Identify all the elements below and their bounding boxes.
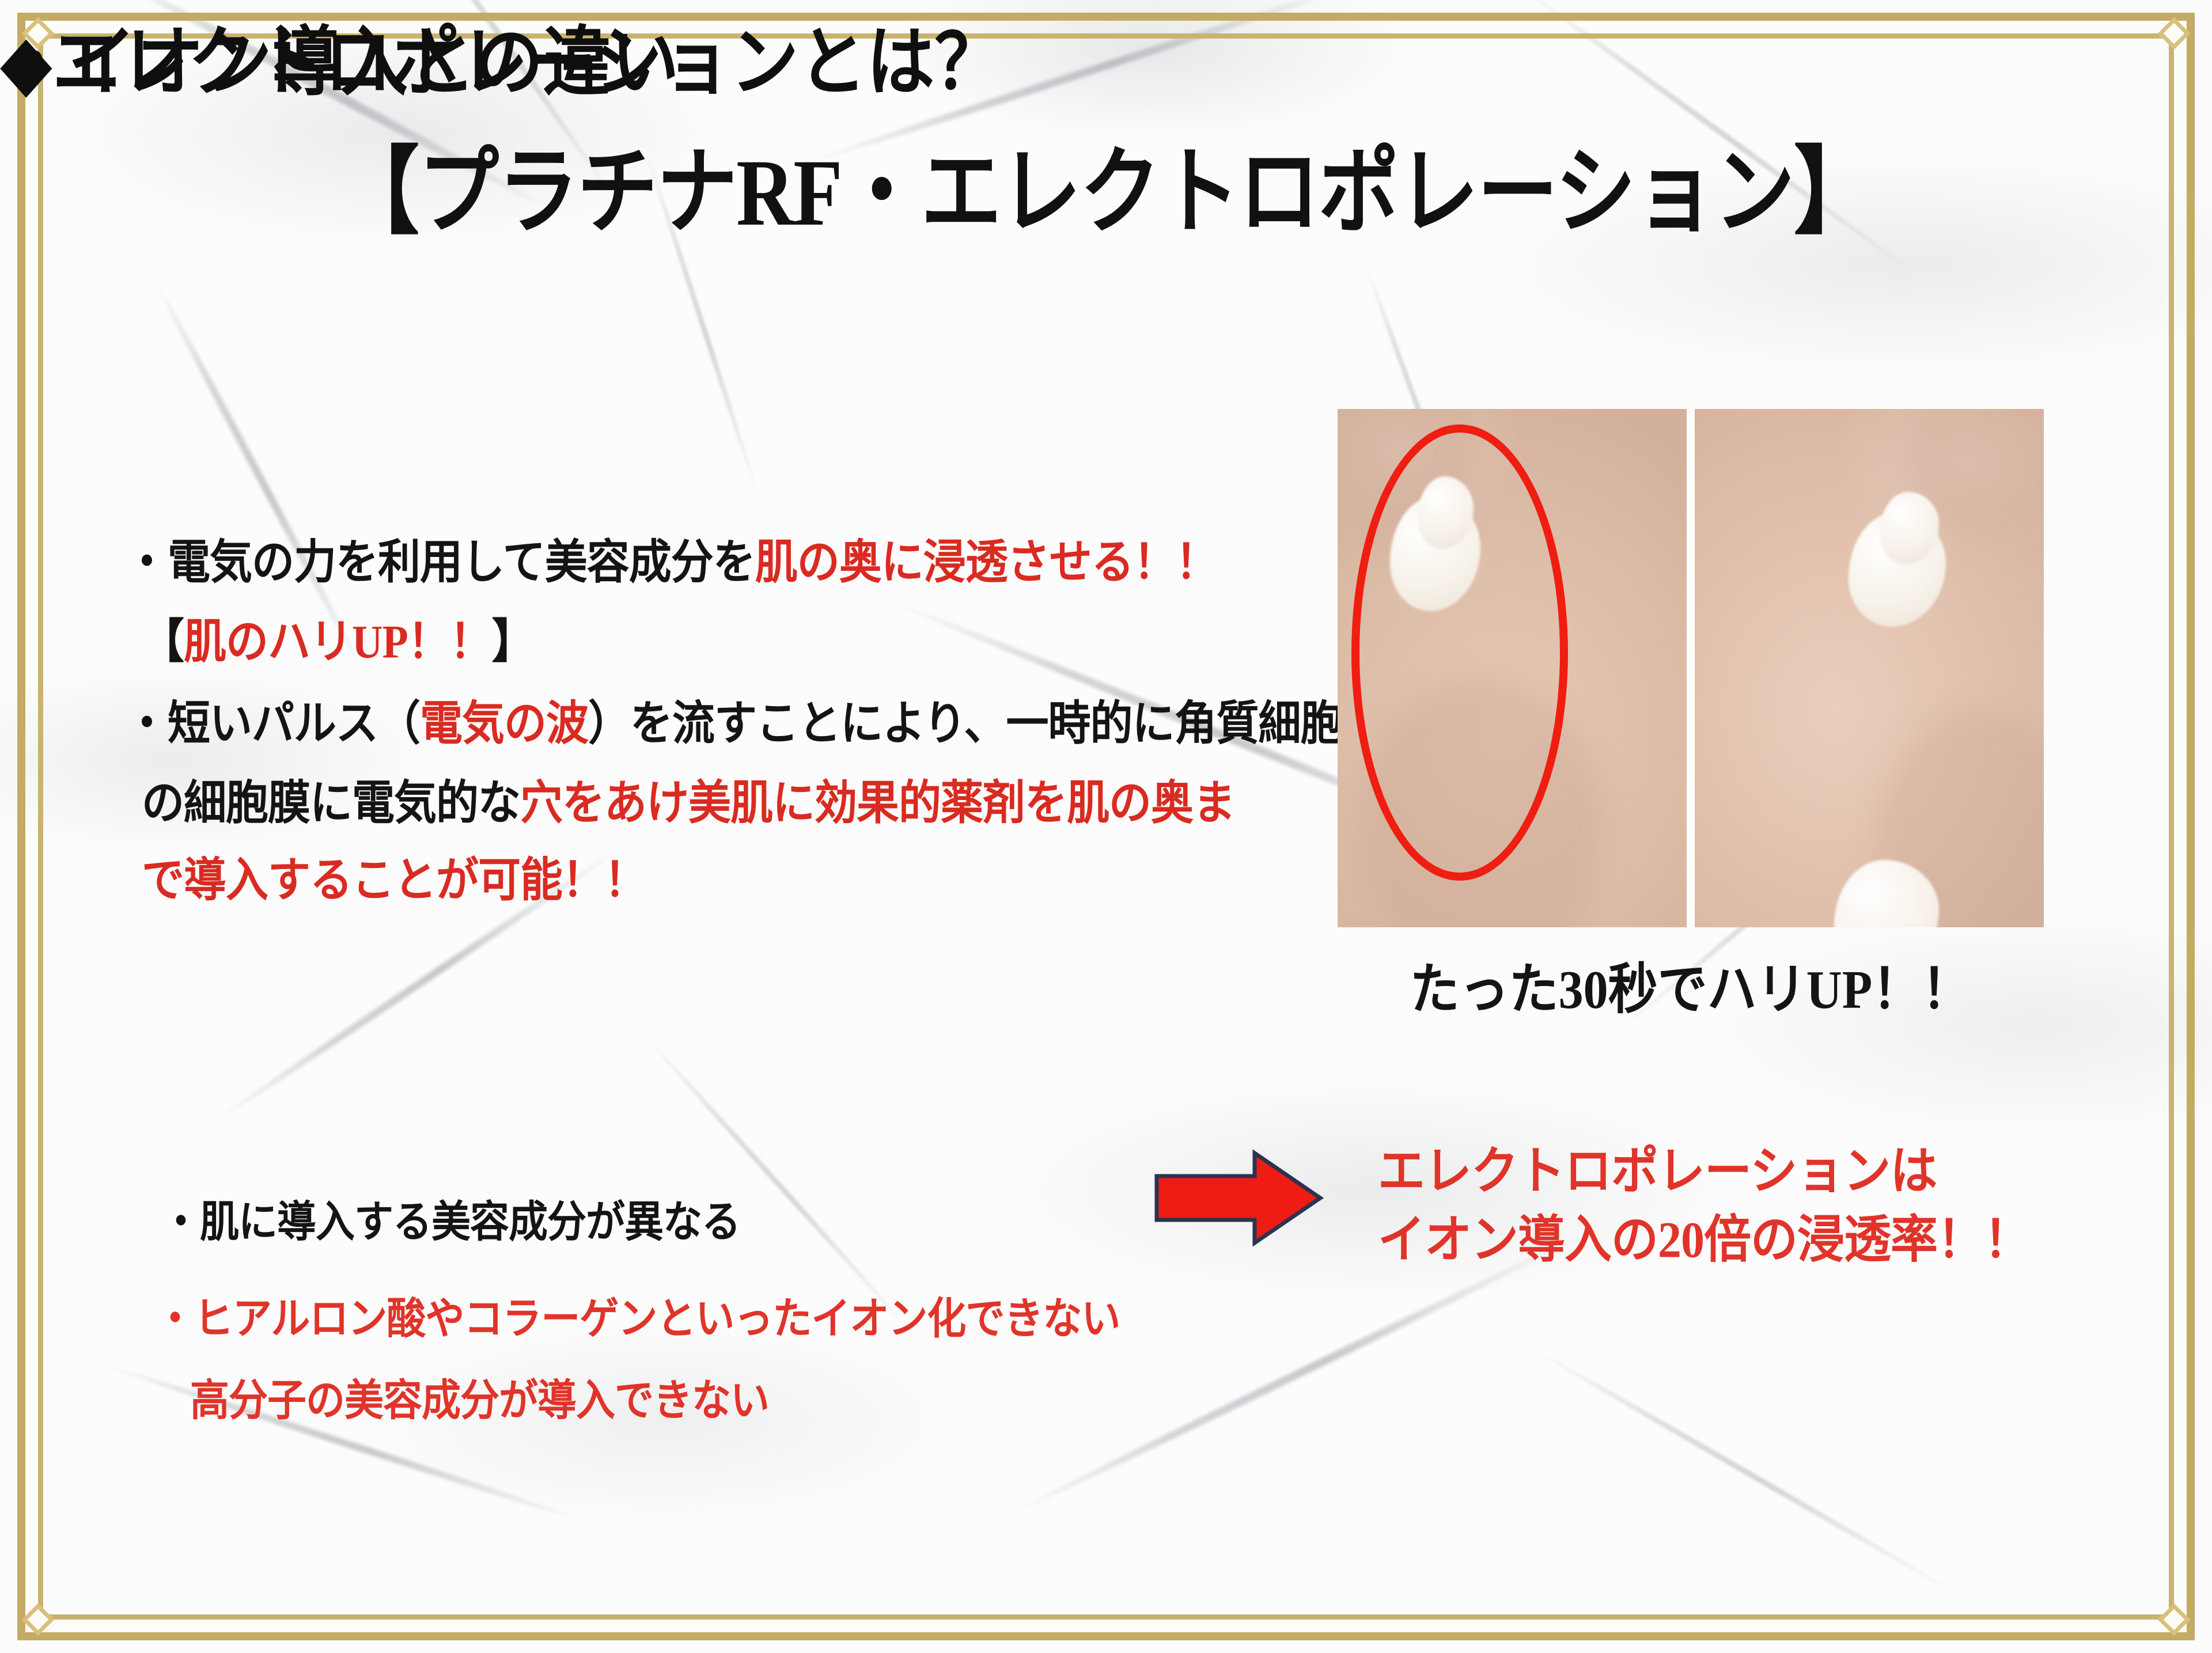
bullet-dot-icon: ・ (0, 21, 68, 105)
body-line-3: ・短いパルス（電気の波）を流すことにより、一時的に角質細胞 (126, 685, 1343, 753)
body-line-3-black-a: 短いパルス（ (168, 698, 420, 750)
body-line-1-black: 電気の力を利用して美容成分を (168, 537, 755, 589)
ion-bullet-1: ・肌に導入する美容成分が異なる (161, 1186, 740, 1249)
red-ellipse-annotation-icon (1351, 424, 1568, 881)
body-line-1: ・電気の力を利用して美容成分を肌の奥に浸透させる！！ (126, 524, 1218, 592)
photo-after (1695, 409, 2044, 927)
body-line-2: 【肌のハリUP！！】 (142, 604, 534, 672)
heading-ion-difference: ・イオン導入との違い (0, 0, 679, 111)
right-arrow-icon (1152, 1146, 1325, 1250)
photo-caption: たった30秒でハリUP！！ (1338, 945, 2044, 1024)
bullet-dot: ・ (156, 1295, 194, 1343)
ion-bullet-2-label: ヒアルロン酸やコラーゲンといったイオン化できない (194, 1295, 1120, 1343)
ion-bullet-1-label: 肌に導入する美容成分が異なる (200, 1198, 740, 1246)
body-line-4: の細胞膜に電気的な穴をあけ美肌に効果的薬剤を肌の奥ま (142, 765, 1235, 833)
ion-bullet-2: ・ヒアルロン酸やコラーゲンといったイオン化できない (156, 1283, 1120, 1346)
slide-root: 【プラチナRF・エレクトロポレーション】 ◆エレクトロポレーションとは？ ・電気… (0, 0, 2212, 1653)
body-line-3-black-b: ）を流すことにより、一時的に角質細胞 (588, 698, 1343, 750)
callout-line-2: イオン導入の20倍の浸透率！！ (1378, 1206, 2031, 1275)
bullet-dot: ・ (161, 1198, 200, 1246)
bullet-dot: ・ (126, 698, 168, 750)
body-line-3-red: 電気の波 (420, 698, 588, 750)
ion-bullet-3-label: 高分子の美容成分が導入できない (190, 1377, 769, 1425)
before-after-photo-pair (1338, 409, 2044, 927)
ion-bullet-3: 高分子の美容成分が導入できない (190, 1365, 769, 1428)
body-line-4-black: の細胞膜に電気的な (142, 778, 520, 829)
callout-text: エレクトロポレーションは イオン導入の20倍の浸透率！！ (1378, 1138, 2031, 1274)
bracket-close: 】 (492, 616, 534, 668)
body-line-5: で導入することが可能！！ (142, 842, 646, 910)
body-line-2-red: 肌のハリUP！！ (184, 616, 492, 668)
page-title: 【プラチナRF・エレクトロポレーション】 (0, 115, 2212, 252)
body-line-1-red: 肌の奥に浸透させる！！ (755, 537, 1218, 589)
body-line-4-red: 穴をあけ美肌に効果的薬剤を肌の奥ま (520, 778, 1235, 829)
photo-before (1338, 409, 1687, 927)
callout-line-1: エレクトロポレーションは (1378, 1138, 2031, 1206)
heading-ion-difference-label: イオン導入との違い (68, 21, 679, 105)
body-line-5-red: で導入することが可能！！ (142, 855, 646, 907)
bullet-dot: ・ (126, 537, 168, 589)
bracket-open: 【 (142, 616, 184, 668)
